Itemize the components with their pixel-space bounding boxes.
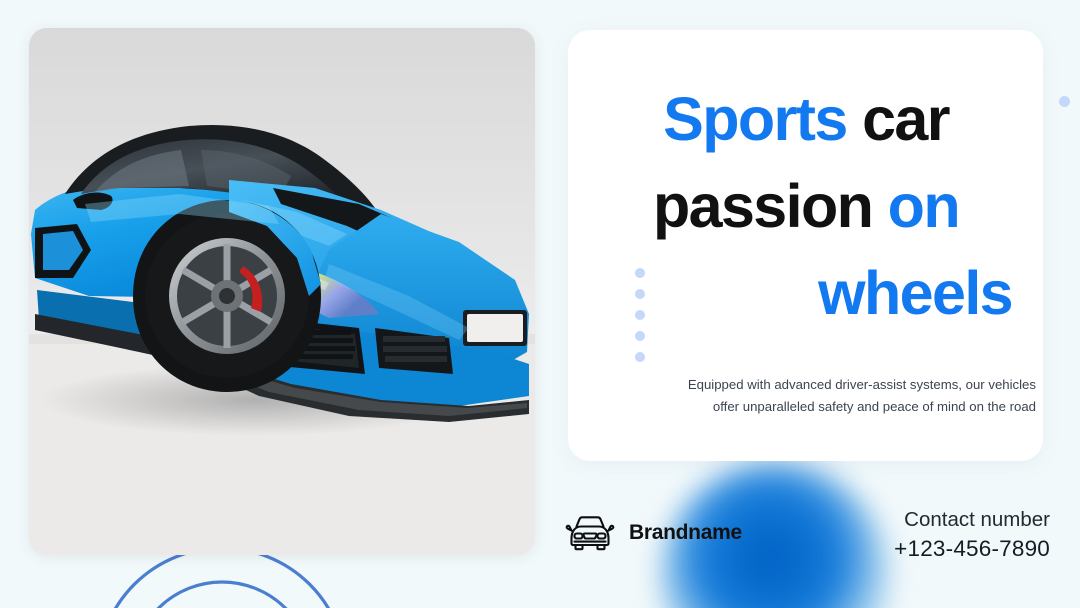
headline-line-2: passion on [596,163,1016,250]
car-front-icon [563,513,617,553]
promo-banner: Sports car passion on wheels Equipped wi… [0,0,1080,608]
brand-logo[interactable]: Brandname [563,513,742,553]
headline-line-1: Sports car [596,76,1016,163]
dot-list-decoration [635,268,645,362]
headline-word-passion: passion [653,172,888,240]
bullet-dot-icon [635,268,645,278]
bullet-dot-icon [635,289,645,299]
headline-line-3: wheels [596,250,1016,337]
hero-image-panel [29,28,535,555]
corner-dot-icon [1059,96,1070,107]
headline-word-sports: Sports [663,85,847,153]
subtitle-paragraph: Equipped with advanced driver-assist sys… [646,374,1036,418]
headline-word-on: on [888,172,959,240]
page-title: Sports car passion on wheels [596,76,1016,337]
bullet-dot-icon [635,310,645,320]
headline-word-wheels: wheels [818,259,1012,327]
bullet-dot-icon [635,352,645,362]
bullet-dot-icon [635,331,645,341]
headline-word-car: car [847,85,949,153]
brand-name-label: Brandname [629,521,742,545]
subtitle-line-1: Equipped with advanced driver-assist sys… [646,374,1036,396]
contact-block: Contact number +123-456-7890 [894,506,1050,564]
contact-number[interactable]: +123-456-7890 [894,534,1050,564]
sports-car-photo [29,28,535,555]
subtitle-line-2: offer unparalleled safety and peace of m… [646,396,1036,418]
contact-label: Contact number [894,506,1050,534]
